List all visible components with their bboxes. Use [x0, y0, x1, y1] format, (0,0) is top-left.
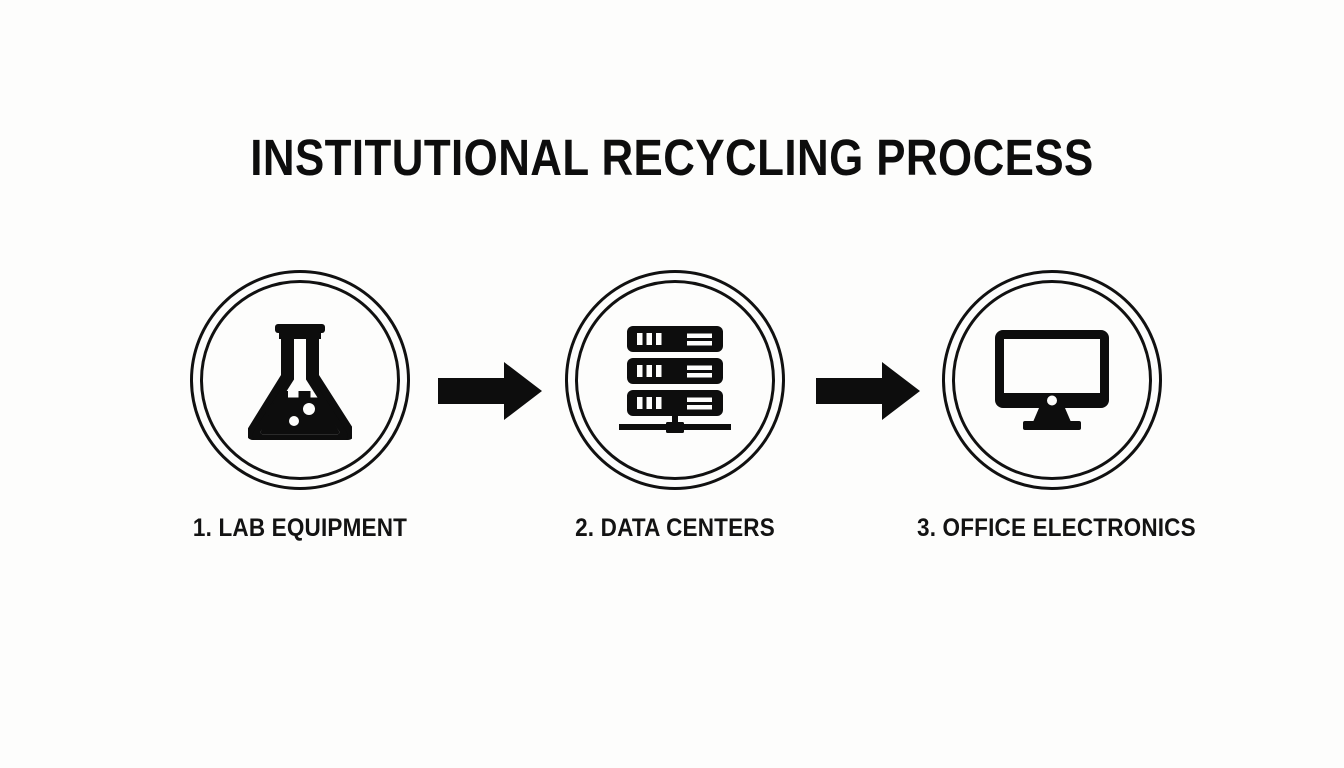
step-label: 2. DATA CENTERS — [540, 516, 810, 541]
process-step-office-electronics[interactable]: 3. OFFICE ELECTRONICS — [902, 268, 1202, 558]
step-icon-container — [952, 280, 1152, 480]
step-icon-container — [575, 280, 775, 480]
arrow-right-icon — [816, 362, 920, 420]
arrow-right-icon — [438, 362, 542, 420]
server-rack-icon — [617, 324, 733, 436]
desktop-monitor-icon — [993, 328, 1111, 432]
recycling-process-infographic: INSTITUTIONAL RECYCLING PROCESS — [0, 0, 1344, 768]
process-steps-row: 1. LAB EQUIPMENT — [0, 268, 1344, 558]
step-label: 1. LAB EQUIPMENT — [165, 516, 435, 541]
step-label: 3. OFFICE ELECTRONICS — [917, 516, 1187, 541]
process-step-lab-equipment[interactable]: 1. LAB EQUIPMENT — [150, 268, 450, 558]
process-step-data-centers[interactable]: 2. DATA CENTERS — [525, 268, 825, 558]
flask-icon — [248, 320, 352, 440]
step-icon-container — [200, 280, 400, 480]
page-title: INSTITUTIONAL RECYCLING PROCESS — [94, 132, 1250, 183]
